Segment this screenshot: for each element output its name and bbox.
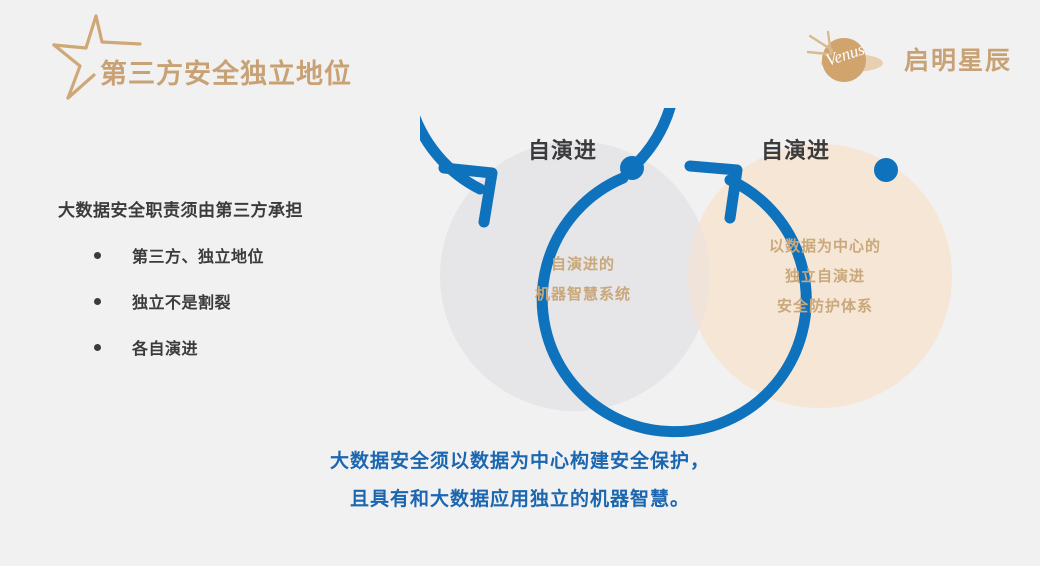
left-circle-body-line: 机器智慧系统 <box>498 280 668 310</box>
list-item-label: 第三方、独立地位 <box>132 243 264 267</box>
left-arrow-endpoint-dot <box>620 156 644 180</box>
bullet-list: 第三方、独立地位 独立不是割裂 各自演进 <box>58 243 408 359</box>
right-circle-body-line: 独立自演进 <box>735 262 915 292</box>
left-content-panel: 大数据安全职责须由第三方承担 第三方、独立地位 独立不是割裂 各自演进 <box>58 196 408 381</box>
right-circle-body-line: 安全防护体系 <box>735 292 915 322</box>
page-title: 第三方安全独立地位 <box>100 52 352 91</box>
bullet-dot-icon <box>94 298 101 305</box>
right-circle-body-line: 以数据为中心的 <box>735 232 915 262</box>
brand-name: 启明星辰 <box>904 41 1012 77</box>
caption-line-1: 大数据安全须以数据为中心构建安全保护， <box>0 443 1040 481</box>
lead-statement: 大数据安全职责须由第三方承担 <box>58 196 408 221</box>
list-item-label: 各自演进 <box>132 335 198 359</box>
left-circle-body: 自演进的 机器智慧系统 <box>498 250 668 310</box>
bullet-dot-icon <box>94 344 101 351</box>
list-item: 第三方、独立地位 <box>58 243 408 267</box>
left-circle-heading: 自演进 <box>528 133 597 165</box>
venus-planet-icon: Venus <box>798 30 894 88</box>
right-circle-body: 以数据为中心的 独立自演进 安全防护体系 <box>735 232 915 322</box>
slide-header: 第三方安全独立地位 Venus 启明星辰 <box>0 0 1040 110</box>
slide-root: 第三方安全独立地位 Venus 启明星辰 大数据安全职责须由第三方 <box>0 0 1040 566</box>
right-arrow-endpoint-dot <box>874 158 898 182</box>
list-item: 各自演进 <box>58 335 408 359</box>
right-circle-heading: 自演进 <box>761 133 830 165</box>
brand-logo: Venus 启明星辰 <box>798 30 1012 88</box>
list-item: 独立不是割裂 <box>58 289 408 313</box>
bullet-dot-icon <box>94 252 101 259</box>
caption-line-2: 且具有和大数据应用独立的机器智慧。 <box>0 481 1040 519</box>
summary-caption: 大数据安全须以数据为中心构建安全保护， 且具有和大数据应用独立的机器智慧。 <box>0 443 1040 519</box>
left-circle-body-line: 自演进的 <box>498 250 668 280</box>
list-item-label: 独立不是割裂 <box>132 289 231 313</box>
